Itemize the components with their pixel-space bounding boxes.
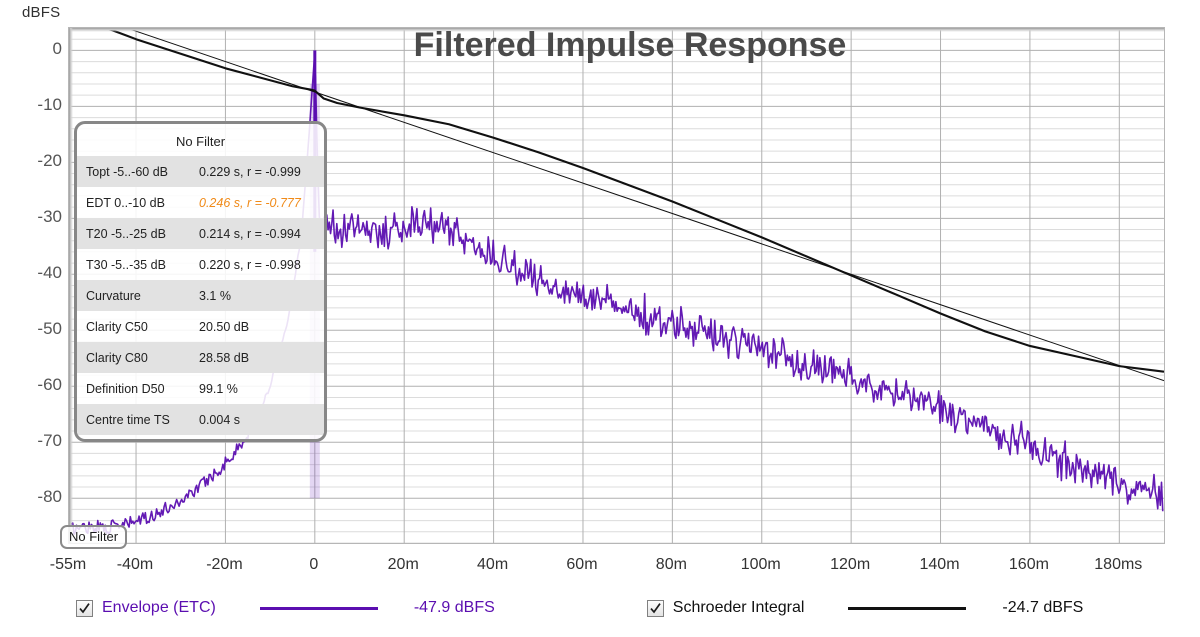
x-tick-label: 60m <box>566 556 597 574</box>
acoustic-parameters-panel[interactable]: No Filter Topt -5..-60 dB0.229 s, r = -0… <box>74 121 327 442</box>
parameter-row: Clarity C5020.50 dB <box>77 311 324 342</box>
parameter-label: Clarity C50 <box>86 320 199 334</box>
legend-label: Envelope (ETC) <box>102 599 216 617</box>
x-tick-label: 120m <box>830 556 870 574</box>
y-tick-label: -40 <box>2 263 62 283</box>
parameter-row: Clarity C8028.58 dB <box>77 342 324 373</box>
parameter-row: T20 -5..-25 dB0.214 s, r = -0.994 <box>77 218 324 249</box>
x-tick-label: 180ms <box>1094 556 1142 574</box>
x-tick-label: 20m <box>388 556 419 574</box>
parameter-label: Topt -5..-60 dB <box>86 165 199 179</box>
parameter-label: T20 -5..-25 dB <box>86 227 199 241</box>
y-tick-label: -60 <box>2 375 62 395</box>
parameter-label: Definition D50 <box>86 382 199 396</box>
parameter-row: Topt -5..-60 dB0.229 s, r = -0.999 <box>77 156 324 187</box>
parameter-value: 3.1 % <box>199 289 231 303</box>
parameter-value: 0.229 s, r = -0.999 <box>199 165 301 179</box>
chart-legend: Envelope (ETC)-47.9 dBFSSchroeder Integr… <box>0 588 1200 628</box>
x-tick-label: 0 <box>309 556 318 574</box>
y-tick-label: -10 <box>2 95 62 115</box>
y-tick-label: -70 <box>2 431 62 451</box>
y-axis-unit-label: dBFS <box>22 4 60 21</box>
y-tick-label: -50 <box>2 319 62 339</box>
y-tick-label: -20 <box>2 151 62 171</box>
panel-title: No Filter <box>77 128 324 156</box>
parameter-value: 0.004 s <box>199 413 240 427</box>
parameter-value: 0.246 s, r = -0.777 <box>199 196 301 210</box>
legend-color-swatch <box>848 607 966 610</box>
y-tick-label: 0 <box>2 39 62 59</box>
legend-item-schroeder[interactable]: Schroeder Integral-24.7 dBFS <box>647 599 1084 617</box>
trace-name-chip[interactable]: No Filter <box>60 525 127 549</box>
parameter-row: Curvature3.1 % <box>77 280 324 311</box>
x-tick-label: 140m <box>920 556 960 574</box>
parameter-label: Centre time TS <box>86 413 199 427</box>
legend-color-swatch <box>260 607 378 610</box>
legend-item-envelope[interactable]: Envelope (ETC)-47.9 dBFS <box>76 599 495 617</box>
parameter-row: T30 -5..-35 dB0.220 s, r = -0.998 <box>77 249 324 280</box>
parameter-value: 99.1 % <box>199 382 238 396</box>
parameter-value: 20.50 dB <box>199 320 249 334</box>
x-tick-label: 80m <box>656 556 687 574</box>
checkbox-icon[interactable] <box>647 600 664 617</box>
x-tick-label: 100m <box>741 556 781 574</box>
legend-value: -24.7 dBFS <box>1002 599 1083 617</box>
parameter-label: Clarity C80 <box>86 351 199 365</box>
parameter-row: EDT 0..-10 dB0.246 s, r = -0.777 <box>77 187 324 218</box>
legend-value: -47.9 dBFS <box>414 599 495 617</box>
checkbox-icon[interactable] <box>76 600 93 617</box>
parameter-value: 28.58 dB <box>199 351 249 365</box>
y-tick-label: -30 <box>2 207 62 227</box>
x-tick-label: 160m <box>1009 556 1049 574</box>
parameter-row: Definition D5099.1 % <box>77 373 324 404</box>
legend-label: Schroeder Integral <box>673 599 805 617</box>
parameter-label: Curvature <box>86 289 199 303</box>
parameter-label: T30 -5..-35 dB <box>86 258 199 272</box>
parameter-value: 0.214 s, r = -0.994 <box>199 227 301 241</box>
panel-rows: Topt -5..-60 dB0.229 s, r = -0.999EDT 0.… <box>77 156 324 435</box>
parameter-label: EDT 0..-10 dB <box>86 196 199 210</box>
x-axis-ticks: -55m-40m-20m020m40m60m80m100m120m140m160… <box>0 556 1200 582</box>
parameter-value: 0.220 s, r = -0.998 <box>199 258 301 272</box>
y-tick-label: -80 <box>2 487 62 507</box>
parameter-row: Centre time TS0.004 s <box>77 404 324 435</box>
x-tick-label: -20m <box>206 556 242 574</box>
x-tick-label: -55m <box>50 556 86 574</box>
x-tick-label: 40m <box>477 556 508 574</box>
x-tick-label: -40m <box>117 556 153 574</box>
